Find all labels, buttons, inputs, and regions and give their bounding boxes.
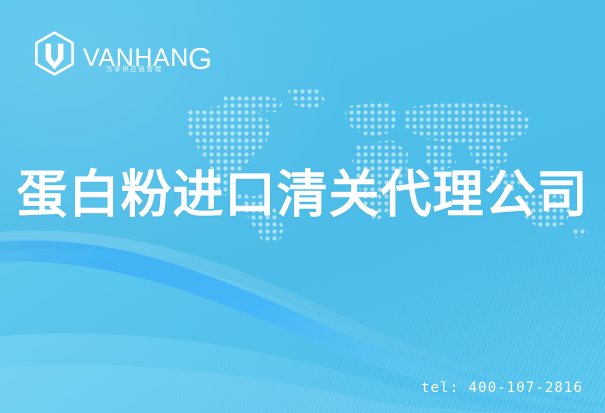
brand-wordmark-g: G bbox=[188, 41, 213, 76]
brand-subtitle: 万享供应链管理 bbox=[106, 67, 163, 74]
contact-phone[interactable]: tel: 400-107-2816 bbox=[421, 380, 583, 396]
brand-wordmark-group: VANHANG 万享供应链管理 bbox=[83, 30, 214, 79]
promo-banner: VANHANG 万享供应链管理 蛋白粉进口清关代理公司 tel: 400-107… bbox=[0, 0, 605, 413]
page-title: 蛋白粉进口清关代理公司 bbox=[0, 168, 605, 224]
brand-logo[interactable]: VANHANG 万享供应链管理 bbox=[33, 30, 214, 79]
vanhang-hexagon-u-icon bbox=[33, 31, 76, 78]
